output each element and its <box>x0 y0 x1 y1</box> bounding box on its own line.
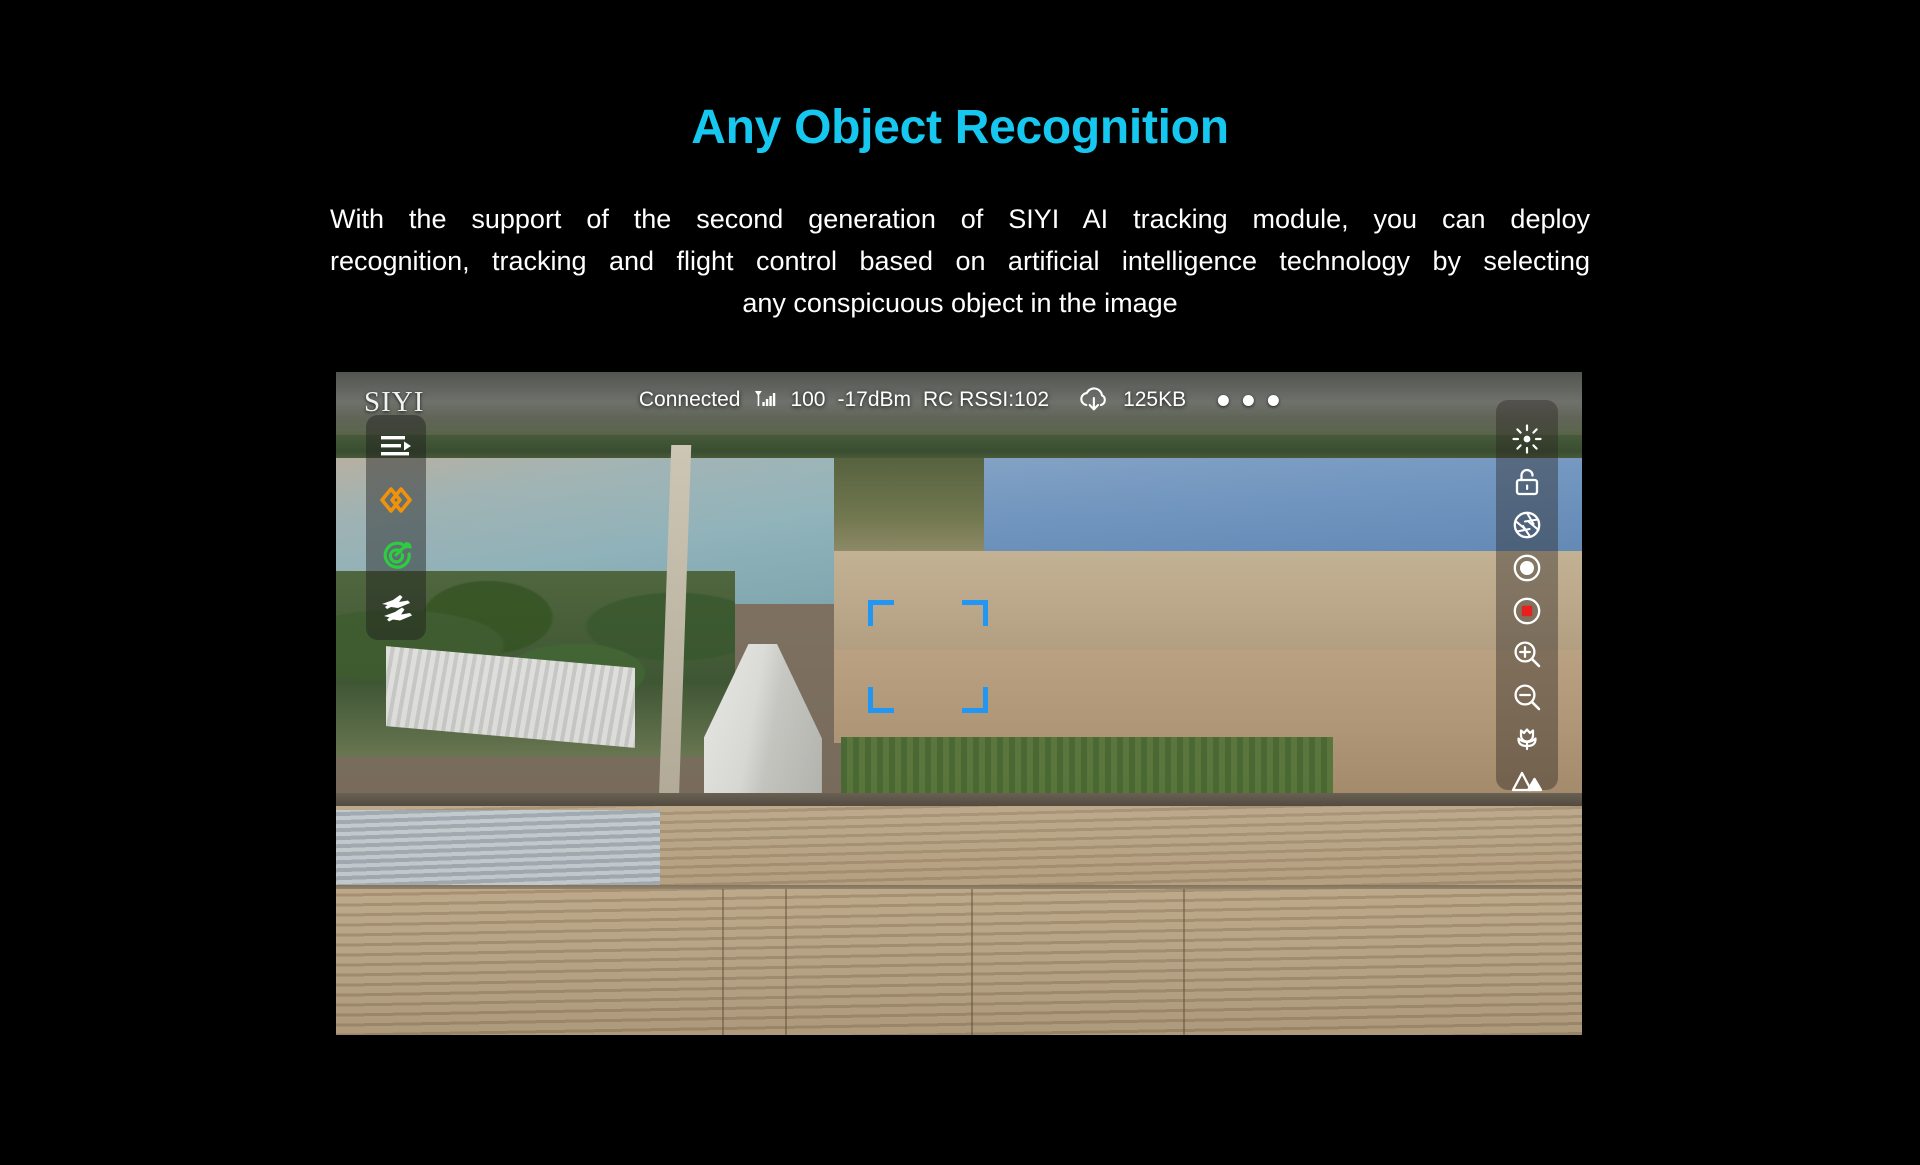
antenna-signal-icon <box>752 388 778 412</box>
hud-status-group: Connected 100 -17dBm RC RSSI:102 <box>639 386 1279 414</box>
page-root: Any Object Recognition With the support … <box>0 0 1920 1165</box>
signal-strength-value: 100 <box>790 388 825 412</box>
bracket-corner-bottom-left <box>868 687 894 713</box>
page-title: Any Object Recognition <box>0 100 1920 155</box>
bracket-corner-top-right <box>962 600 988 626</box>
bracket-corner-bottom-right <box>962 687 988 713</box>
subtitle-line-2: recognition, tracking and flight control… <box>330 240 1590 282</box>
zoom-out-icon[interactable] <box>1506 682 1548 712</box>
connection-status-label: Connected <box>639 388 741 412</box>
mountain-scene-icon[interactable] <box>1506 768 1548 794</box>
record-video-icon[interactable] <box>1506 596 1548 626</box>
ai-tracking-icon[interactable] <box>376 483 416 517</box>
bracket-corner-top-left <box>868 600 894 626</box>
camera-aperture-icon[interactable] <box>1506 510 1548 540</box>
drone-video-feed[interactable]: SIYI Connected 100 -17dBm RC RSSI:102 <box>336 372 1582 1035</box>
signal-dbm-value: -17dBm <box>837 388 911 412</box>
rc-rssi-value: RC RSSI:102 <box>923 388 1049 412</box>
subtitle-line-3: any conspicuous object in the image <box>330 282 1590 324</box>
left-toolbar <box>366 415 426 640</box>
brightness-icon[interactable] <box>1506 424 1548 454</box>
subtitle-line-1: With the support of the second generatio… <box>330 198 1590 240</box>
target-lock-icon[interactable] <box>376 537 416 571</box>
photo-capture-icon[interactable] <box>1506 553 1548 583</box>
hud-more-options-button[interactable] <box>1218 395 1279 406</box>
right-toolbar <box>1496 400 1558 790</box>
data-rate-value: 125KB <box>1123 388 1186 412</box>
flower-macro-icon[interactable] <box>1506 725 1548 755</box>
hud-top-bar: SIYI Connected 100 -17dBm RC RSSI:102 <box>336 372 1582 430</box>
playlist-menu-icon[interactable] <box>376 429 416 463</box>
page-subtitle: With the support of the second generatio… <box>330 198 1590 324</box>
cloud-download-icon <box>1077 386 1111 414</box>
dual-aircraft-icon[interactable] <box>376 591 416 625</box>
unlock-padlock-icon[interactable] <box>1506 467 1548 497</box>
tracking-bracket[interactable] <box>868 600 988 713</box>
zoom-in-icon[interactable] <box>1506 639 1548 669</box>
